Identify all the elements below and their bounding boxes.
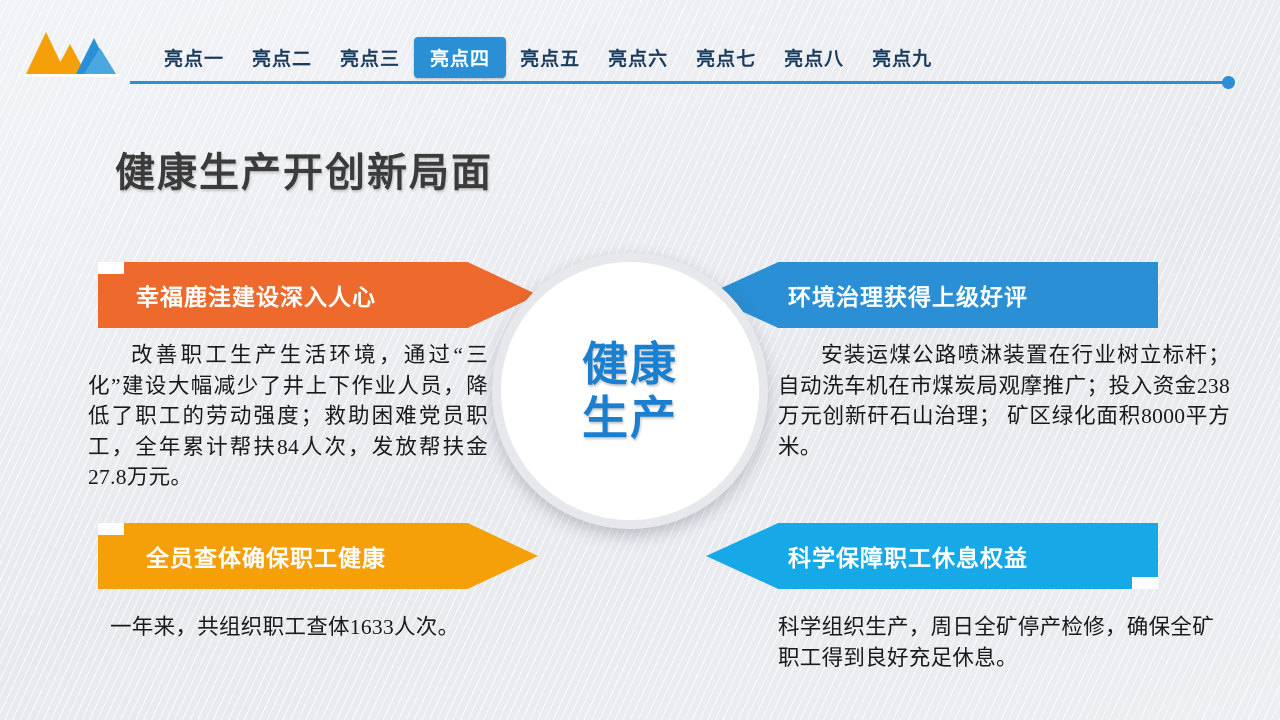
banner-left-bottom-label: 全员查体确保职工健康 xyxy=(146,539,386,573)
banner-notch-left-bottom xyxy=(98,523,124,535)
banner-left-top: 幸福鹿洼建设深入人心 xyxy=(98,262,538,328)
nav-item-6[interactable]: 亮点六 xyxy=(594,38,682,77)
nav-item-7[interactable]: 亮点七 xyxy=(682,38,770,77)
paragraph-right-bottom: 科学组织生产，周日全矿停产检修，确保全矿职工得到良好充足休息。 xyxy=(778,612,1230,674)
banner-notch-left-top xyxy=(98,262,124,274)
nav-item-3[interactable]: 亮点三 xyxy=(326,38,414,77)
center-circle-text: 健康 生产 xyxy=(582,337,678,446)
nav-item-8[interactable]: 亮点八 xyxy=(770,38,858,77)
paragraph-left-top: 改善职工生产生活环境，通过“三化”建设大幅减少了井上下作业人员，降低了职工的劳动… xyxy=(88,340,488,493)
center-circle: 健康 生产 xyxy=(492,253,768,529)
banner-right-bottom: 科学保障职工休息权益 xyxy=(706,523,1158,589)
nav-item-5[interactable]: 亮点五 xyxy=(506,38,594,77)
banner-notch-right-bottom xyxy=(1132,577,1158,589)
top-nav: 亮点一 亮点二 亮点三 亮点四 亮点五 亮点六 亮点七 亮点八 亮点九 xyxy=(150,40,946,74)
paragraph-left-bottom: 一年来，共组织职工查体1633人次。 xyxy=(100,612,570,643)
nav-item-2[interactable]: 亮点二 xyxy=(238,38,326,77)
banner-left-top-label: 幸福鹿洼建设深入人心 xyxy=(136,278,376,312)
slide-canvas: 亮点一 亮点二 亮点三 亮点四 亮点五 亮点六 亮点七 亮点八 亮点九 健康生产… xyxy=(0,0,1280,720)
banner-left-bottom: 全员查体确保职工健康 xyxy=(98,523,538,589)
nav-item-1[interactable]: 亮点一 xyxy=(150,38,238,77)
paragraph-right-top: 安装运煤公路喷淋装置在行业树立标杆；自动洗车机在市煤炭局观摩推广；投入资金238… xyxy=(778,340,1230,462)
nav-item-9[interactable]: 亮点九 xyxy=(858,38,946,77)
banner-right-bottom-label: 科学保障职工休息权益 xyxy=(788,539,1028,573)
page-title: 健康生产开创新局面 xyxy=(115,140,493,198)
nav-rail-end-dot xyxy=(1222,76,1235,89)
center-circle-line-1: 健康 xyxy=(582,337,678,391)
center-circle-line-2: 生产 xyxy=(582,391,678,445)
banner-right-top-label: 环境治理获得上级好评 xyxy=(788,278,1028,312)
banner-right-top: 环境治理获得上级好评 xyxy=(706,262,1158,328)
logo-icon xyxy=(24,22,120,78)
nav-item-4-active[interactable]: 亮点四 xyxy=(414,37,506,78)
nav-underline-rail xyxy=(130,81,1230,84)
